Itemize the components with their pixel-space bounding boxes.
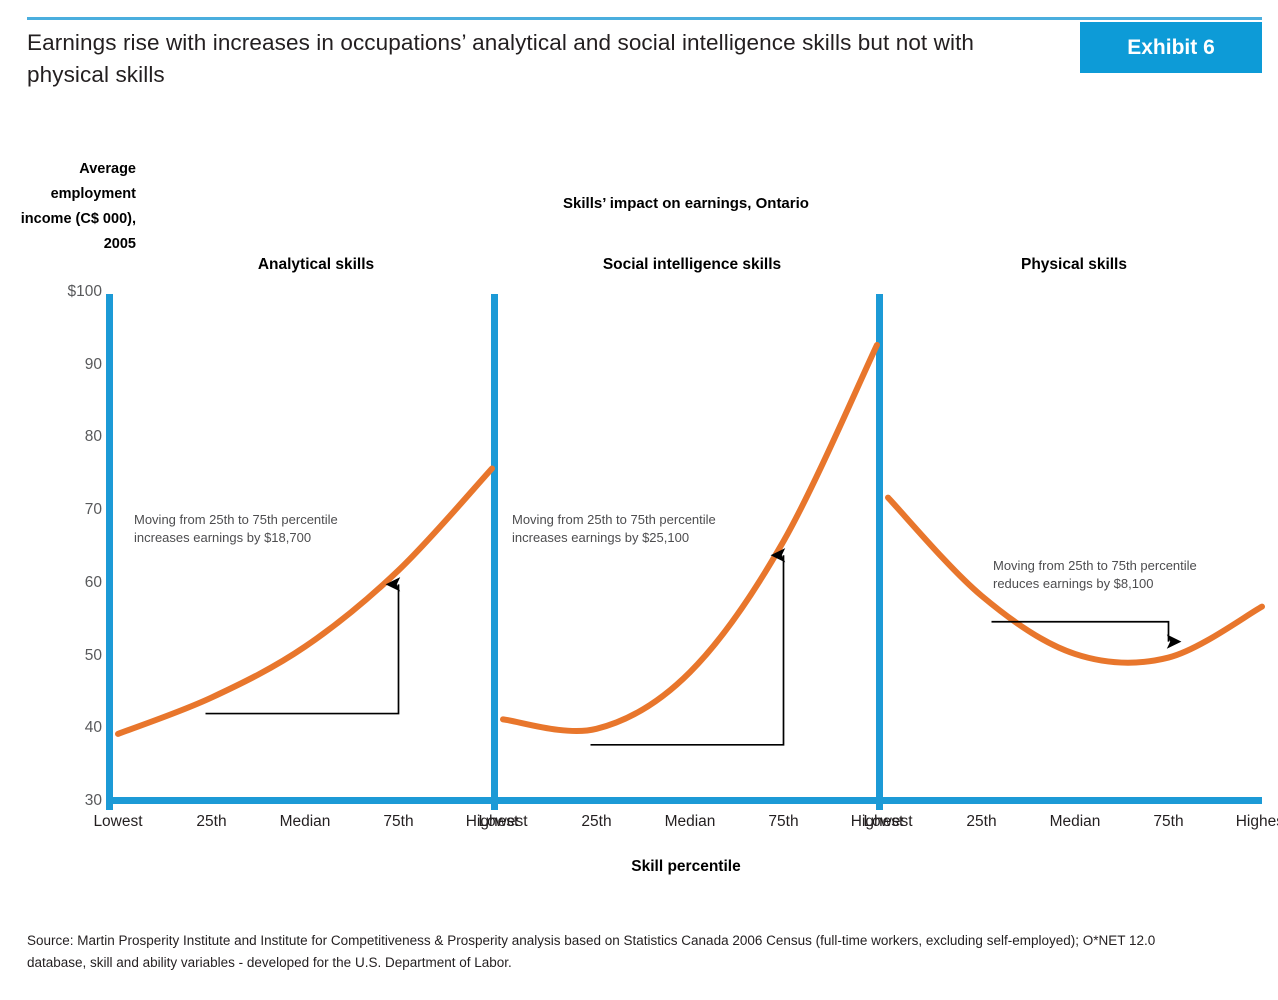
annotation-physical: Moving from 25th to 75th percentile redu…	[993, 557, 1243, 593]
annotation-social-intelligence: Moving from 25th to 75th percentile incr…	[512, 511, 762, 547]
panel-axis-0	[106, 294, 113, 810]
x-tick-label: Median	[1032, 813, 1118, 831]
y-tick-label: 60	[44, 574, 102, 592]
x-tick-label: 25th	[169, 813, 255, 831]
y-tick-label: 70	[44, 501, 102, 519]
curve-0	[118, 469, 492, 734]
x-tick-label: Lowest	[845, 813, 931, 831]
x-tick-label: Highest	[1219, 813, 1278, 831]
y-tick-label: 30	[44, 792, 102, 810]
x-tick-label: 75th	[741, 813, 827, 831]
x-axis-baseline	[112, 797, 1262, 804]
y-tick-label: $100	[44, 283, 102, 301]
x-tick-label: Median	[647, 813, 733, 831]
x-tick-label: Lowest	[75, 813, 161, 831]
y-tick-label: 90	[44, 356, 102, 374]
x-axis-title: Skill percentile	[492, 858, 880, 876]
x-tick-label: Median	[262, 813, 348, 831]
x-tick-label: 25th	[554, 813, 640, 831]
x-tick-label: 75th	[356, 813, 442, 831]
panel-axis-2	[876, 294, 883, 810]
exhibit-page: Earnings rise with increases in occupati…	[0, 0, 1278, 1000]
chart-canvas	[0, 0, 1278, 1000]
y-tick-label: 80	[44, 428, 102, 446]
panel-axis-1	[491, 294, 498, 810]
x-tick-label: Lowest	[460, 813, 546, 831]
x-tick-label: 75th	[1126, 813, 1212, 831]
source-note: Source: Martin Prosperity Institute and …	[27, 930, 1187, 974]
annotation-analytical: Moving from 25th to 75th percentile incr…	[134, 511, 384, 547]
y-tick-label: 50	[44, 647, 102, 665]
x-tick-label: 25th	[939, 813, 1025, 831]
y-tick-label: 40	[44, 719, 102, 737]
